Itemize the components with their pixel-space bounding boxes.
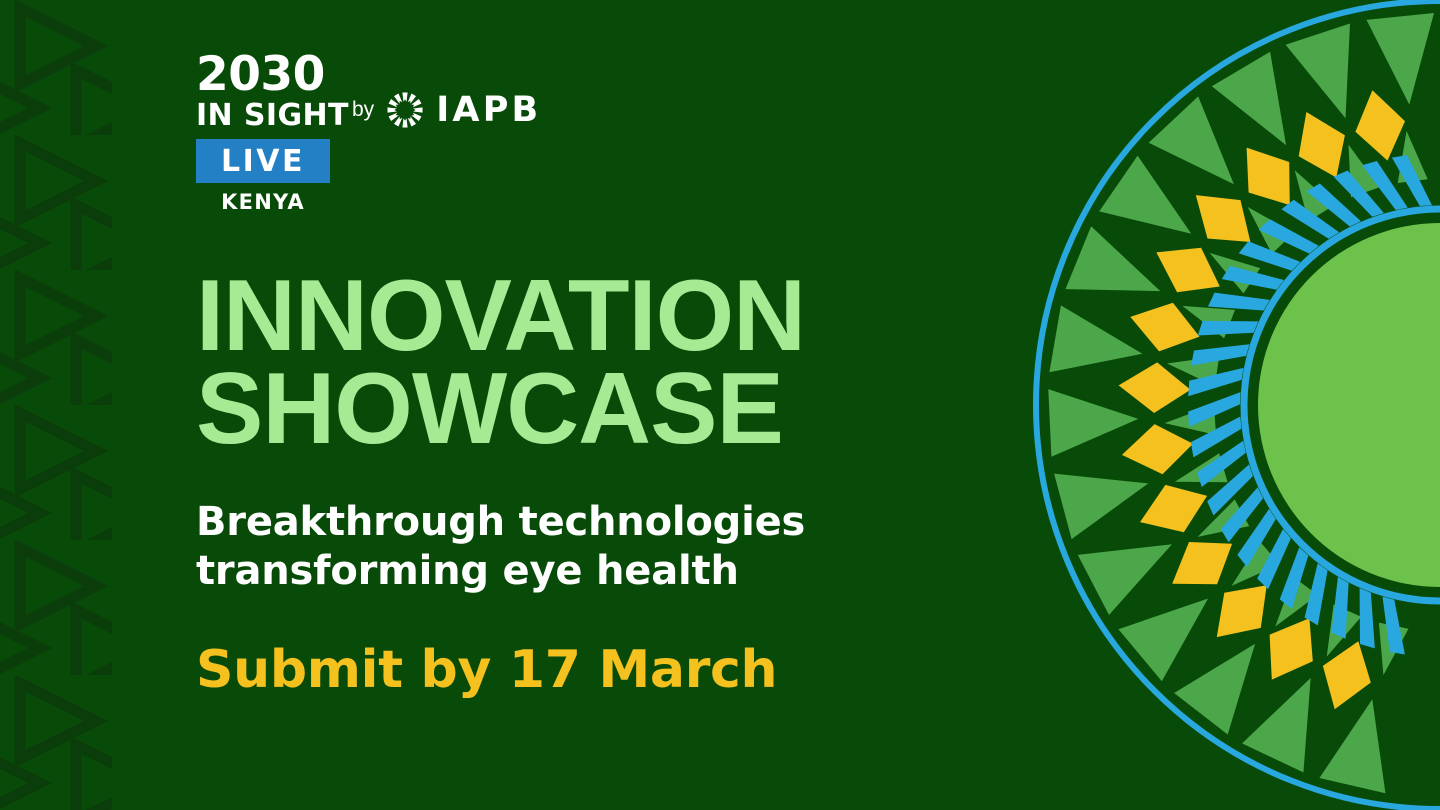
subtitle-line-2: transforming eye health — [196, 547, 896, 596]
page-title: INNOVATION SHOWCASE — [196, 270, 1026, 456]
iapb-sunburst-icon — [385, 90, 425, 130]
subtitle: Breakthrough technologies transforming e… — [196, 498, 896, 596]
subtitle-line-1: Breakthrough technologies — [196, 498, 896, 547]
headline-line-2: SHOWCASE — [196, 363, 1026, 456]
2030-in-sight-live-kenya-logo: 2030 IN SIGHT LIVE KENYA — [196, 52, 349, 214]
by-label: by — [352, 98, 374, 122]
headline-line-1: INNOVATION — [196, 270, 1026, 363]
brand-logo-lockup: 2030 IN SIGHT LIVE KENYA by IAPB — [196, 52, 676, 214]
by-iapb-lockup: by IAPB — [352, 90, 541, 130]
live-badge: LIVE — [196, 139, 330, 183]
live-badge-label: LIVE — [221, 144, 305, 179]
country-label: KENYA — [196, 190, 330, 214]
poster-content: 2030 IN SIGHT LIVE KENYA by IAPB INNOVAT… — [0, 0, 1040, 810]
deadline-callout: Submit by 17 March — [196, 640, 1040, 700]
right-circular-motif — [1020, 0, 1440, 810]
brand-year: 2030 — [196, 52, 349, 98]
brand-insight: IN SIGHT — [196, 100, 349, 132]
iapb-wordmark: IAPB — [436, 90, 541, 130]
